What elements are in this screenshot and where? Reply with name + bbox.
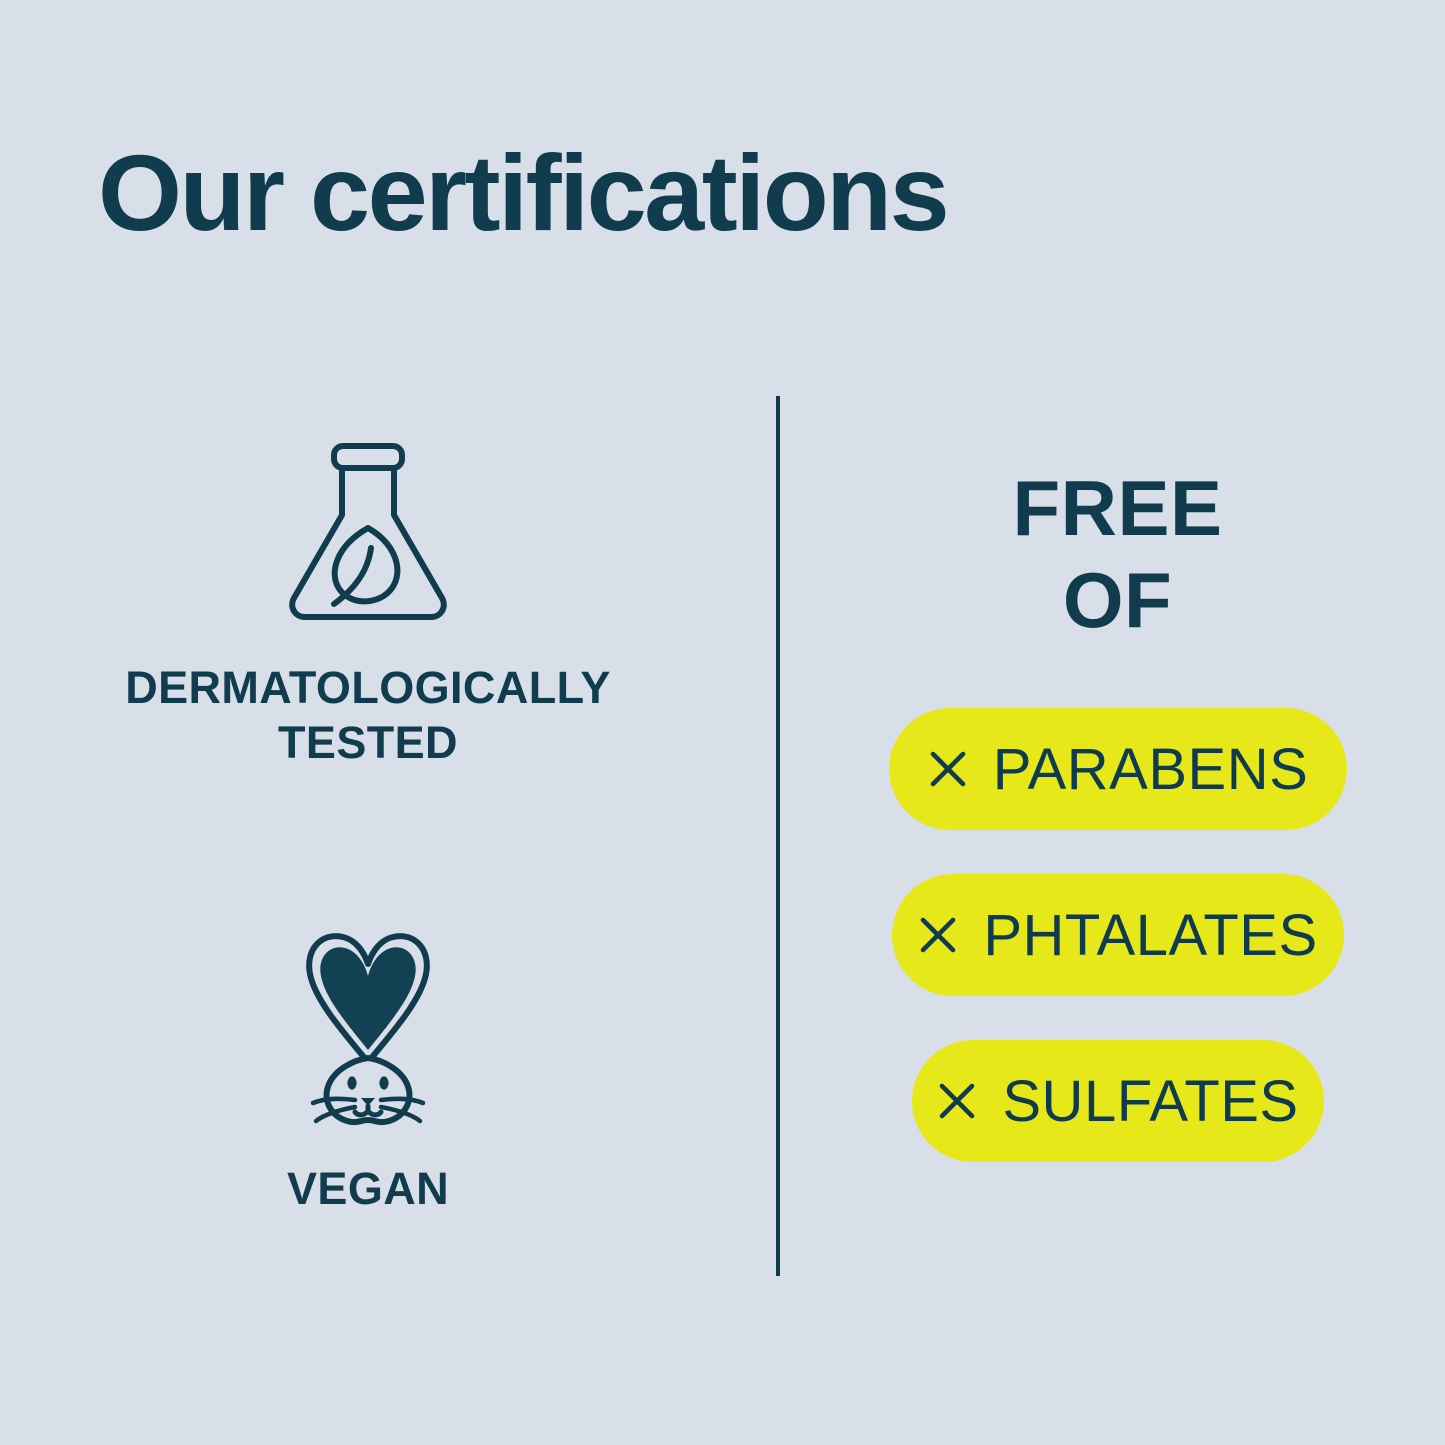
x-mark-icon xyxy=(927,748,969,790)
free-of-heading-line2: OF xyxy=(790,554,1445,646)
certification-label-line1: VEGAN xyxy=(287,1163,449,1214)
certification-item-dermatologically-tested: DERMATOLOGICALLY TESTED xyxy=(48,430,688,771)
free-of-item-label: SULFATES xyxy=(1002,1068,1298,1135)
free-of-list: PARABENS PHTALATES SULFATES xyxy=(790,708,1445,1162)
x-mark-icon xyxy=(936,1080,978,1122)
certification-item-vegan: VEGAN xyxy=(48,920,688,1217)
certification-label: VEGAN xyxy=(48,1162,688,1217)
certification-label-line1: DERMATOLOGICALLY xyxy=(125,662,611,713)
flask-leaf-icon xyxy=(48,430,688,635)
free-of-item-phtalates[interactable]: PHTALATES xyxy=(892,874,1344,996)
certifications-panel: Our certifications DERMATOLOGICALLY TEST xyxy=(0,0,1445,1445)
x-mark-icon xyxy=(917,914,959,956)
free-of-item-sulfates[interactable]: SULFATES xyxy=(912,1040,1324,1162)
free-of-item-parabens[interactable]: PARABENS xyxy=(889,708,1347,830)
vertical-divider xyxy=(776,396,780,1276)
certification-label-line2: TESTED xyxy=(278,717,458,768)
free-of-heading: FREE OF xyxy=(790,462,1445,646)
page-title: Our certifications xyxy=(98,134,947,253)
free-of-column: FREE OF PARABENS PHTALATES xyxy=(790,400,1445,1280)
certifications-column: DERMATOLOGICALLY TESTED xyxy=(0,400,760,1280)
free-of-item-label: PHTALATES xyxy=(983,902,1317,969)
certification-label: DERMATOLOGICALLY TESTED xyxy=(48,661,688,771)
free-of-heading-line1: FREE xyxy=(790,462,1445,554)
bunny-heart-ears-icon xyxy=(48,920,688,1140)
free-of-item-label: PARABENS xyxy=(993,736,1309,803)
